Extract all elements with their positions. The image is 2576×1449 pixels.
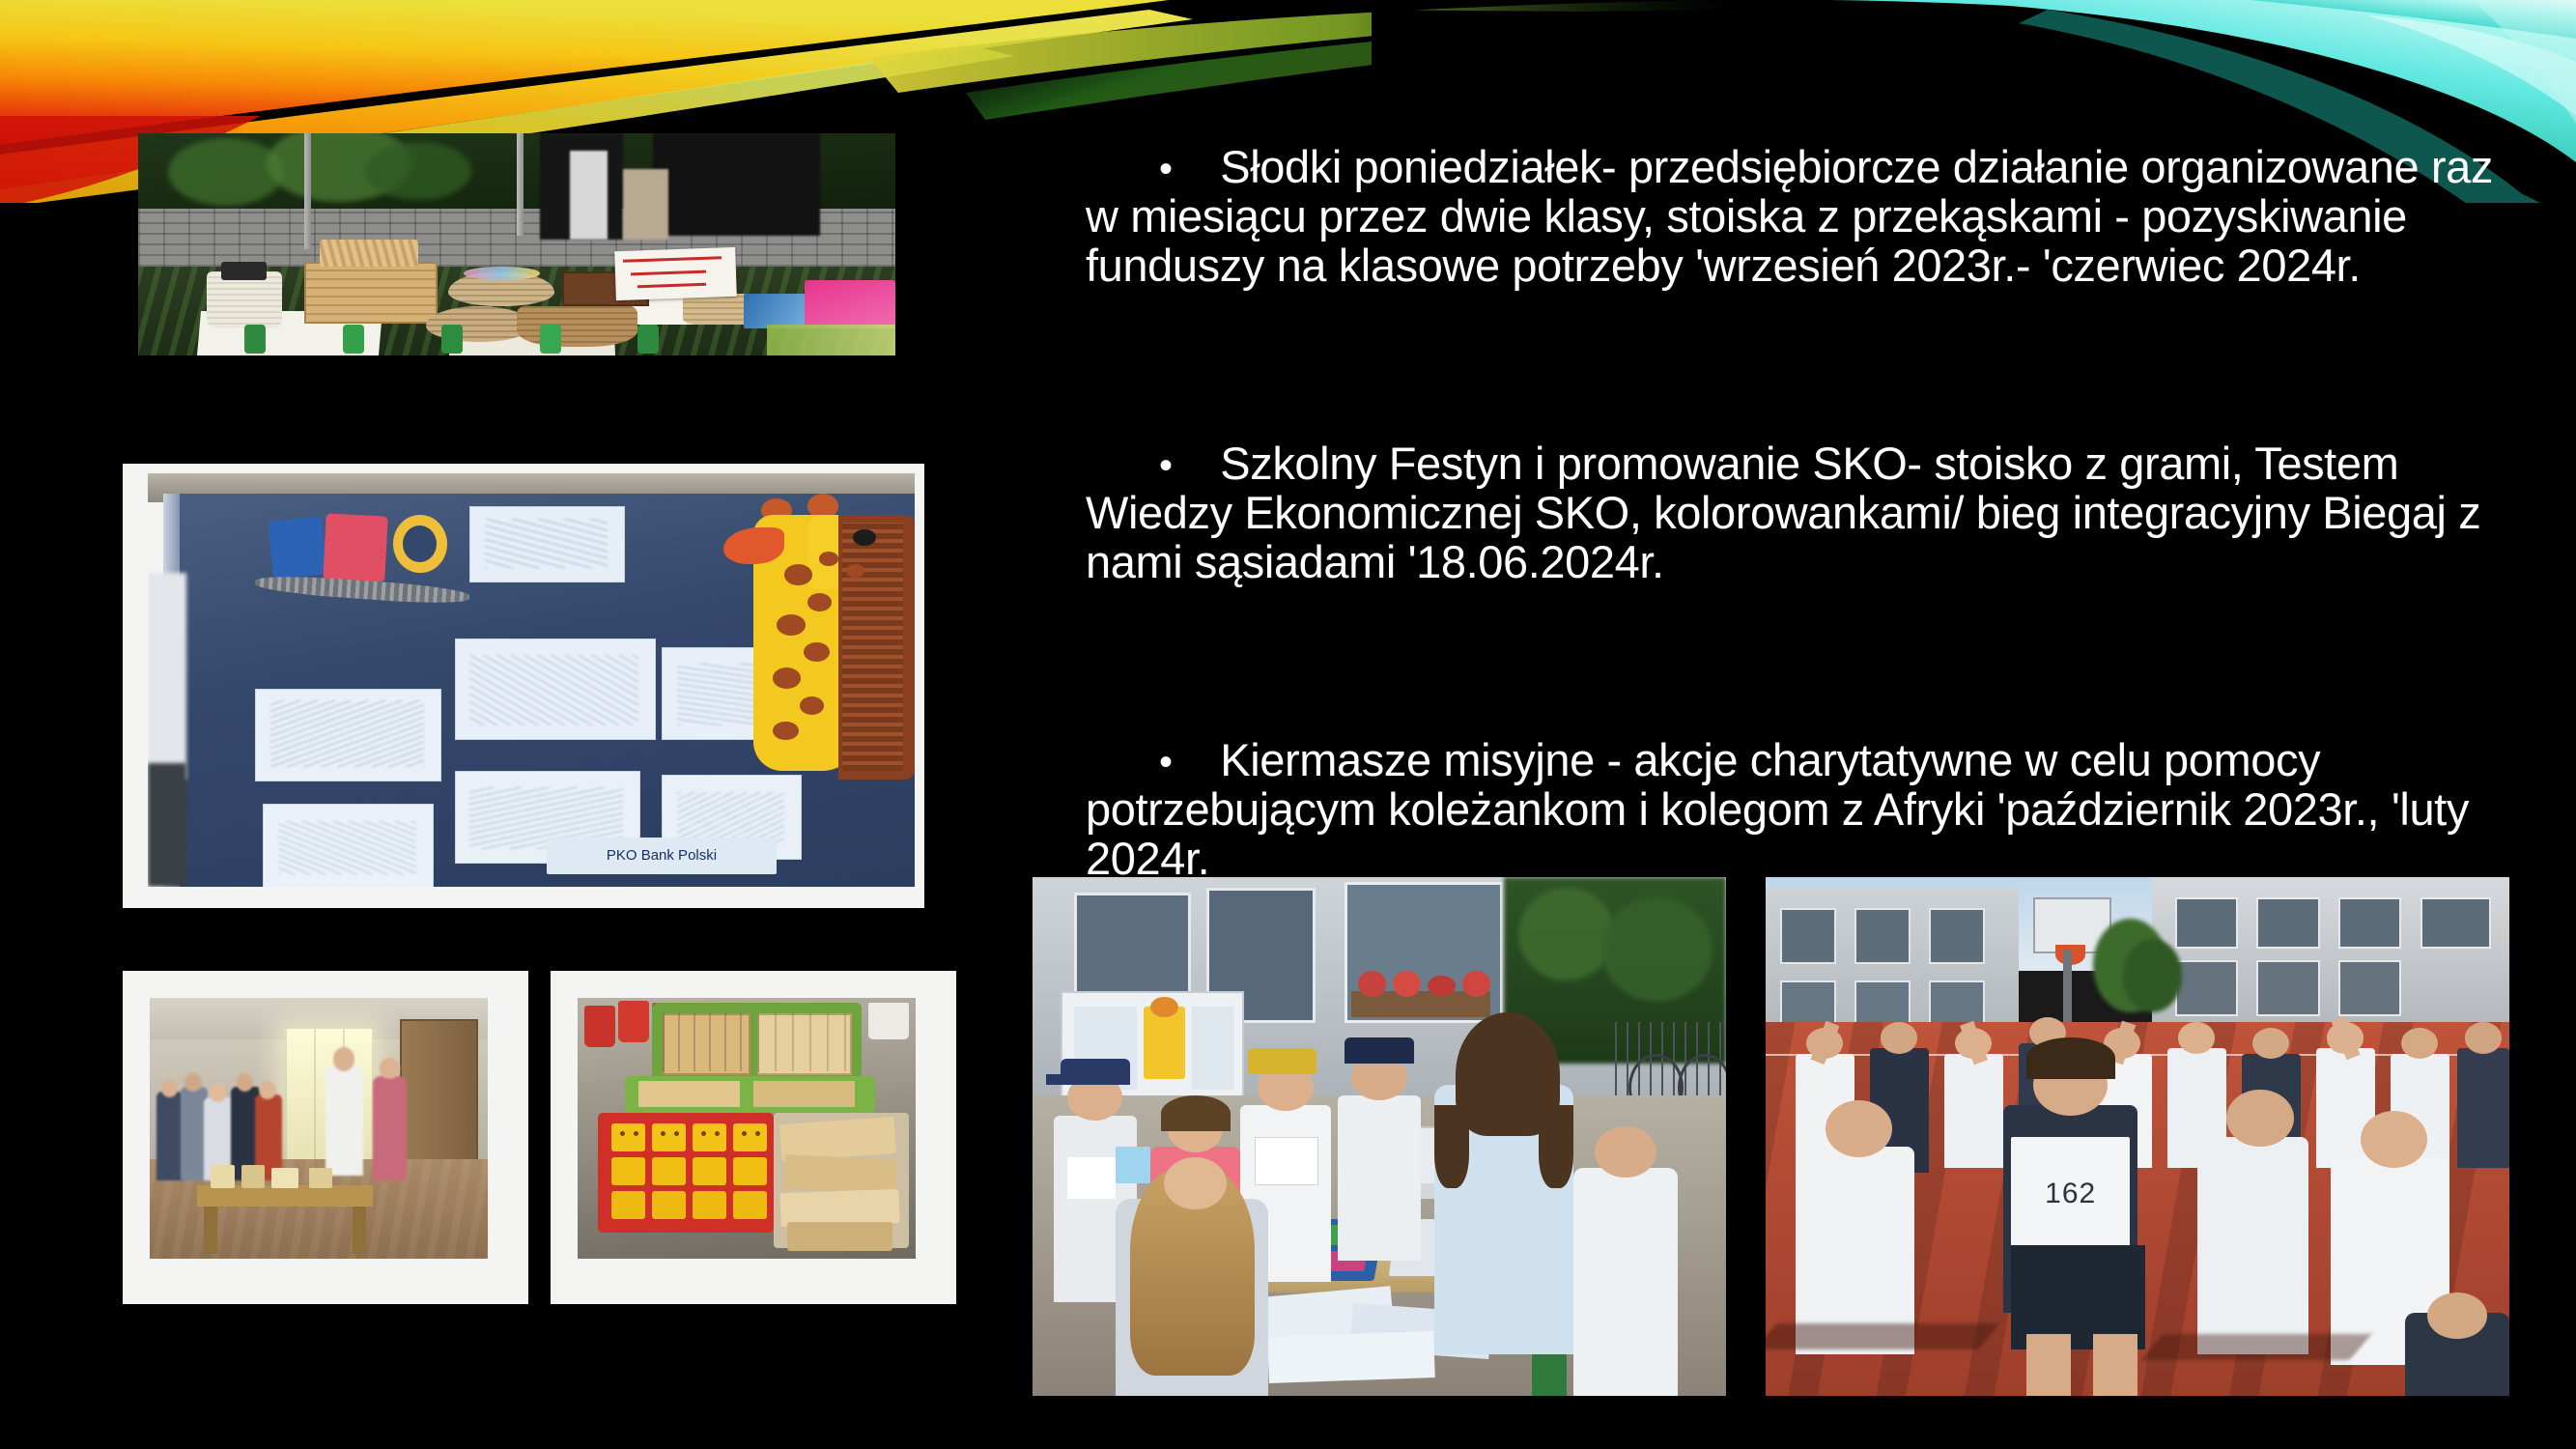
photo-cakes-tray — [551, 971, 956, 1304]
slide-canvas: PKO Bank Polski — [0, 0, 2576, 1449]
bullet-paragraph-2: • Szkolny Festyn i promowanie SKO- stois… — [1049, 389, 2507, 636]
race-bib-number: 162 — [2045, 1178, 2096, 1210]
bullet-marker: • — [1159, 149, 1196, 190]
bullet-paragraph-3: • Kiermasze misyjne - akcje charytatywne… — [1049, 686, 2507, 932]
pko-logo-plate: PKO Bank Polski — [547, 838, 777, 875]
bullet-marker: • — [1159, 445, 1196, 487]
bullet-text-column: • Słodki poniedziałek- przedsiębiorcze d… — [1049, 93, 2507, 982]
photo-sko-board: PKO Bank Polski — [123, 464, 924, 908]
pko-logo-text: PKO Bank Polski — [607, 847, 717, 864]
bullet-text-2: Szkolny Festyn i promowanie SKO- stoisko… — [1086, 438, 2493, 587]
bullet-text-3: Kiermasze misyjne - akcje charytatywne w… — [1086, 734, 2481, 884]
sko-letter-k — [323, 513, 387, 582]
bullet-marker: • — [1159, 742, 1196, 783]
photo-school-corridor — [123, 971, 528, 1304]
photo-charity-stall-table — [138, 133, 895, 355]
sko-letter-s — [268, 516, 327, 579]
bullet-text-1: Słodki poniedziałek- przedsiębiorcze dzi… — [1086, 141, 2505, 291]
race-bib: 162 — [2011, 1137, 2130, 1251]
bullet-paragraph-1: • Słodki poniedziałek- przedsiębiorcze d… — [1049, 93, 2507, 339]
